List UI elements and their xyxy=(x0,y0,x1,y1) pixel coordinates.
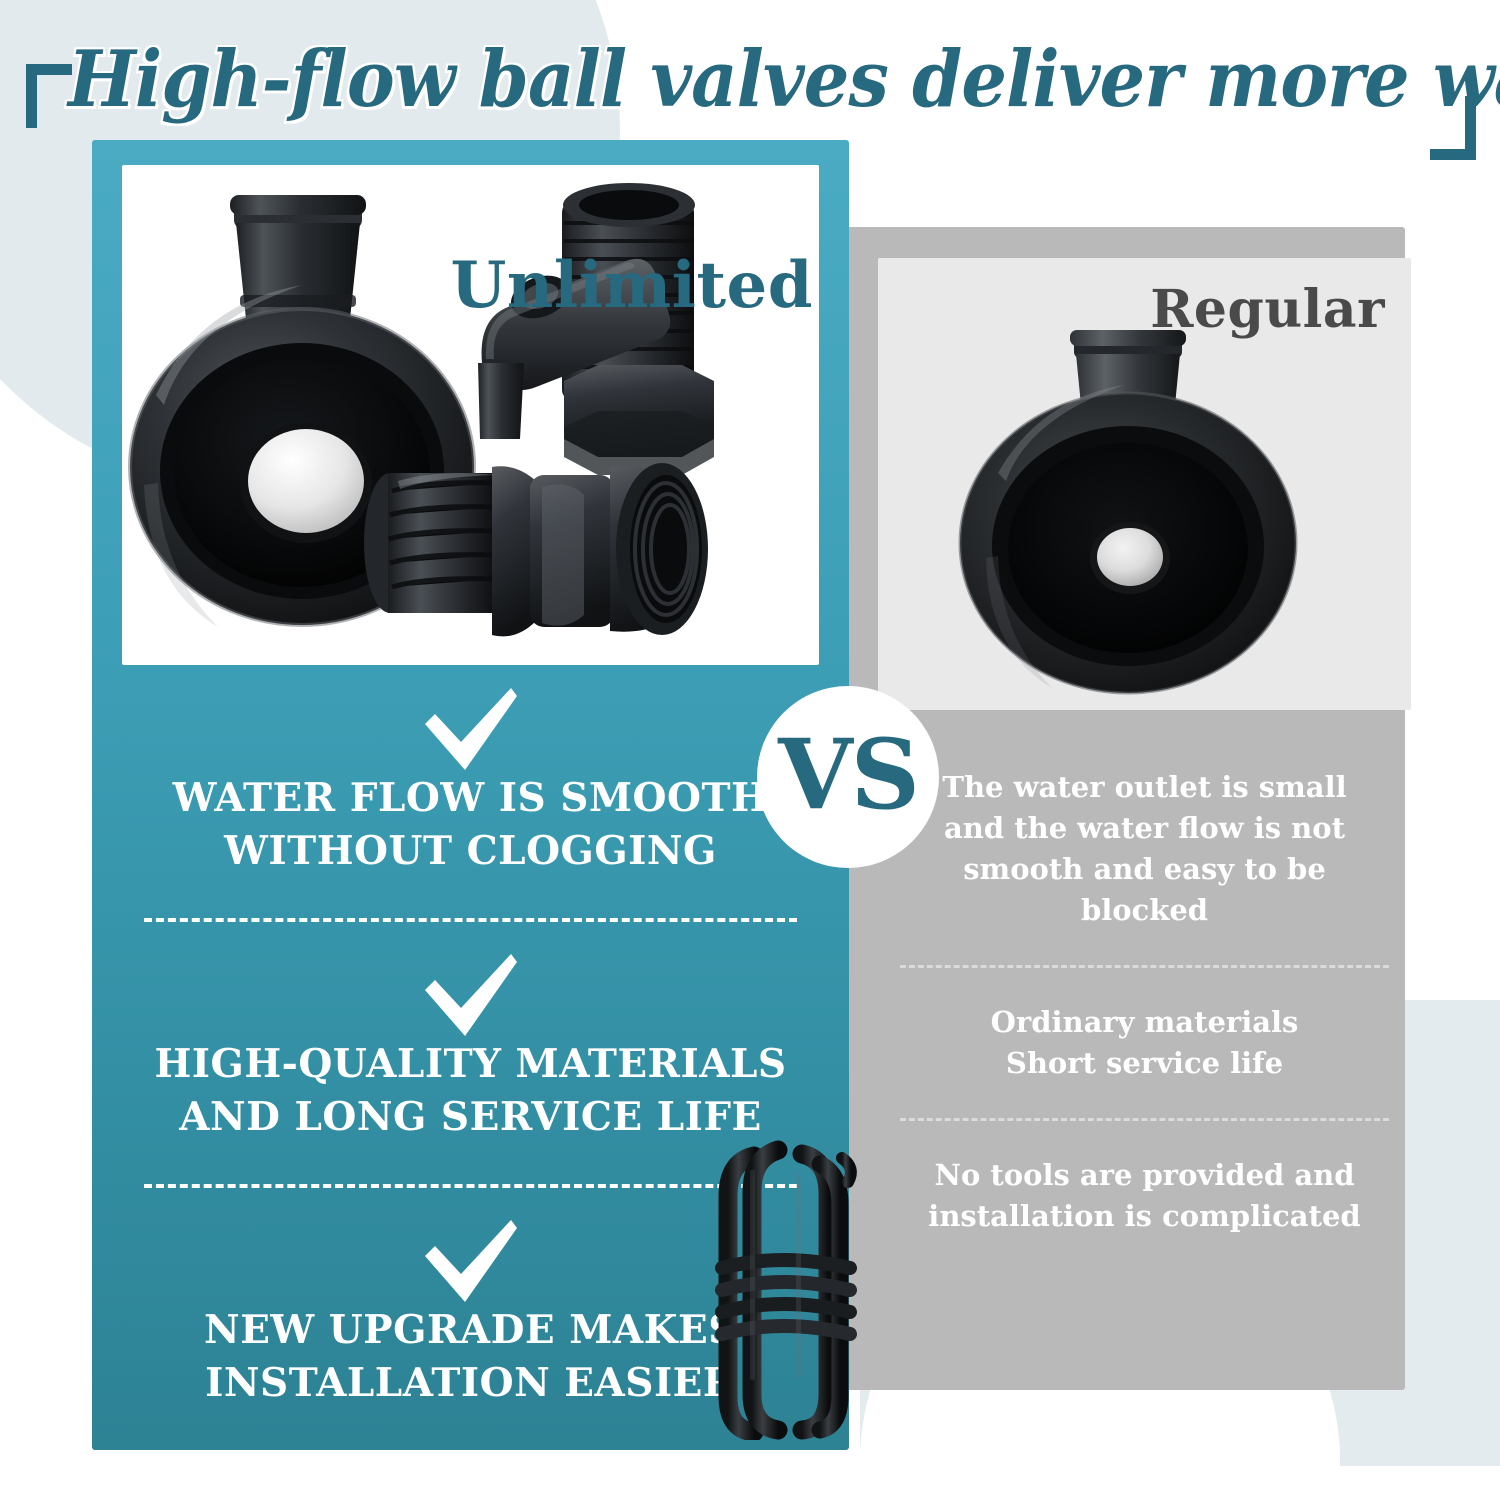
corner-bracket-close-icon xyxy=(1430,96,1476,160)
dashed-divider xyxy=(900,965,1389,968)
feature-line: HIGH-QUALITY MATERIALS xyxy=(138,1038,803,1091)
unlimited-label: Unlimited xyxy=(450,248,813,323)
infographic-canvas: High-flow ball valves deliver more water xyxy=(0,0,1500,1500)
drawback-line: Short service life xyxy=(896,1043,1393,1084)
drawback-line: installation is complicated xyxy=(896,1196,1393,1237)
regular-drawback-item: Ordinary materials Short service life xyxy=(878,1002,1411,1084)
regular-label: Regular xyxy=(1150,279,1385,340)
dashed-divider xyxy=(144,918,797,922)
feature-line: AND LONG SERVICE LIFE xyxy=(138,1091,803,1144)
check-icon xyxy=(92,952,849,1038)
coiled-rope-illustration xyxy=(692,1140,882,1440)
vs-badge: VS xyxy=(757,686,939,868)
vs-label: VS xyxy=(778,727,918,823)
header: High-flow ball valves deliver more water xyxy=(0,28,1500,136)
regular-drawbacks-list: The water outlet is small and the water … xyxy=(878,767,1411,1237)
check-icon xyxy=(92,686,849,772)
feature-line: WITHOUT CLOGGING xyxy=(138,825,803,878)
unlimited-feature-item: HIGH-QUALITY MATERIALS AND LONG SERVICE … xyxy=(92,1038,849,1144)
dashed-divider xyxy=(900,1118,1389,1121)
unlimited-product-photo xyxy=(122,165,819,665)
corner-bracket-open-icon xyxy=(26,64,72,128)
drawback-line: and the water flow is not xyxy=(896,808,1393,849)
unlimited-feature-item: WATER FLOW IS SMOOTH WITHOUT CLOGGING xyxy=(92,772,849,878)
regular-drawback-item: The water outlet is small and the water … xyxy=(878,767,1411,931)
drawback-line: No tools are provided and xyxy=(896,1155,1393,1196)
decorative-bottom-strip xyxy=(0,1466,1500,1500)
drawback-line: Ordinary materials xyxy=(896,1002,1393,1043)
feature-line: WATER FLOW IS SMOOTH xyxy=(138,772,803,825)
unlimited-panel: Unlimited WATER FLOW IS SMOOTH WITHOUT C… xyxy=(92,140,849,1450)
page-title: High-flow ball valves deliver more water xyxy=(68,28,1338,132)
drawback-line: The water outlet is small xyxy=(896,767,1393,808)
regular-drawback-item: No tools are provided and installation i… xyxy=(878,1155,1411,1237)
unlimited-valve-illustration xyxy=(122,165,819,665)
drawback-line: smooth and easy to be blocked xyxy=(896,849,1393,931)
